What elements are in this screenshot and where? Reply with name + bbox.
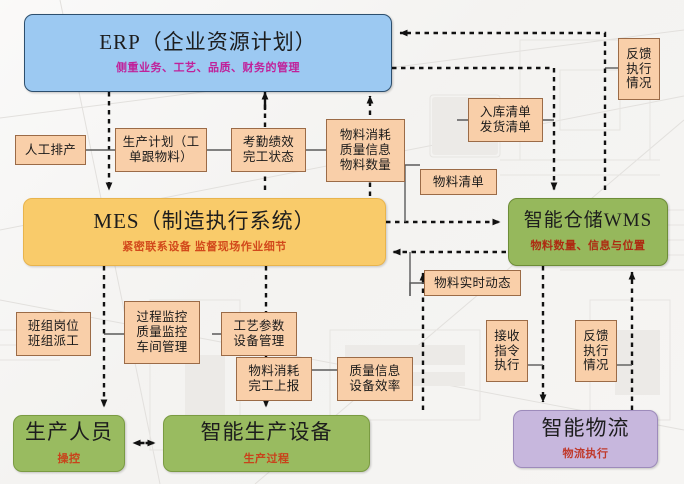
node-production-staff-subtitle: 操控: [58, 450, 81, 466]
node-smart-logistics-subtitle: 物流执行: [563, 445, 609, 461]
tag-quality-info-efficiency[interactable]: 质量信息 设备效率: [337, 357, 413, 401]
node-smart-logistics-title: 智能物流: [542, 417, 630, 440]
tag-feedback-status-logistics[interactable]: 反馈 执行 情况: [575, 320, 617, 382]
node-smart-equipment[interactable]: 智能生产设备 生产过程: [163, 415, 370, 472]
node-wms-subtitle: 物料数量、信息与位置: [531, 237, 646, 253]
tag-receive-command-execute[interactable]: 接收 指令 执行: [486, 320, 528, 382]
tag-material-consumption-quality[interactable]: 物料消耗 质量信息 物料数量: [326, 119, 405, 182]
node-wms[interactable]: 智能仓储WMS 物料数量、信息与位置: [508, 198, 668, 266]
node-erp-subtitle: 侧重业务、工艺、品质、财务的管理: [116, 59, 300, 75]
tag-manual-scheduling[interactable]: 人工排产: [15, 135, 86, 165]
tag-inbound-outbound-list[interactable]: 入库清单 发货清单: [468, 98, 543, 142]
tag-bill-of-materials[interactable]: 物料清单: [420, 169, 497, 195]
tag-feedback-status-erp[interactable]: 反馈 执行 情况: [618, 38, 660, 100]
tag-production-plan[interactable]: 生产计划（工 单跟物料）: [115, 128, 207, 172]
tag-team-post-dispatch[interactable]: 班组岗位 班组派工: [16, 312, 91, 356]
node-mes[interactable]: MES（制造执行系统） 紧密联系设备 监督现场作业细节: [23, 198, 386, 266]
node-smart-equipment-subtitle: 生产过程: [244, 450, 290, 466]
tag-material-realtime[interactable]: 物料实时动态: [424, 270, 521, 296]
node-erp[interactable]: ERP（企业资源计划） 侧重业务、工艺、品质、财务的管理: [24, 14, 392, 92]
node-mes-subtitle: 紧密联系设备 监督现场作业细节: [122, 238, 287, 254]
tag-material-consumption-report[interactable]: 物料消耗 完工上报: [236, 357, 312, 401]
tag-process-params-equipment[interactable]: 工艺参数 设备管理: [221, 312, 297, 356]
node-production-staff-title: 生产人员: [25, 421, 113, 444]
node-mes-title: MES（制造执行系统）: [93, 210, 315, 233]
node-production-staff[interactable]: 生产人员 操控: [13, 415, 125, 472]
node-smart-equipment-title: 智能生产设备: [201, 421, 333, 444]
node-smart-logistics[interactable]: 智能物流 物流执行: [513, 410, 658, 468]
node-wms-title: 智能仓储WMS: [524, 211, 652, 232]
tag-process-quality-workshop[interactable]: 过程监控 质量监控 车间管理: [124, 301, 200, 364]
node-erp-title: ERP（企业资源计划）: [99, 31, 317, 54]
diagram-canvas: ERP（企业资源计划） 侧重业务、工艺、品质、财务的管理 MES（制造执行系统）…: [0, 0, 684, 484]
tag-attendance-performance[interactable]: 考勤绩效 完工状态: [231, 128, 306, 172]
